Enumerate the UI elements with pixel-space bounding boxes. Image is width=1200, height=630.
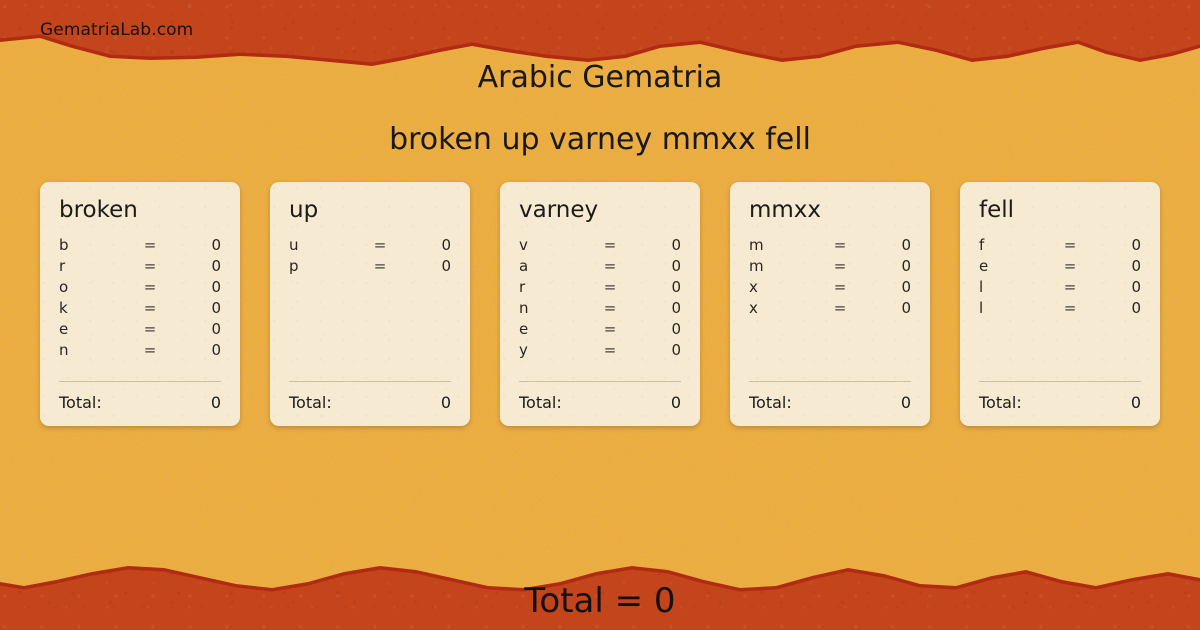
- letter-list: b=0r=0o=0k=0e=0n=0: [59, 236, 221, 381]
- equals-sign: =: [823, 278, 857, 296]
- letter-char: y: [519, 341, 593, 359]
- letter-char: l: [979, 299, 1053, 317]
- letter-row: l=0: [979, 278, 1141, 299]
- card-divider: [289, 381, 451, 382]
- equals-sign: =: [133, 320, 167, 338]
- letter-char: m: [749, 257, 823, 275]
- word-title: fell: [979, 198, 1141, 222]
- letter-char: m: [749, 236, 823, 254]
- card-total-row: Total:0: [749, 393, 911, 412]
- letter-value: 0: [857, 278, 911, 296]
- letter-value: 0: [1087, 278, 1141, 296]
- letter-char: u: [289, 236, 363, 254]
- letter-row: r=0: [519, 278, 681, 299]
- letter-value: 0: [627, 236, 681, 254]
- grand-total: Total = 0: [0, 581, 1200, 621]
- equals-sign: =: [1053, 236, 1087, 254]
- letter-row: m=0: [749, 236, 911, 257]
- letter-value: 0: [397, 236, 451, 254]
- letter-value: 0: [857, 299, 911, 317]
- card-total-row: Total:0: [519, 393, 681, 412]
- equals-sign: =: [823, 299, 857, 317]
- letter-value: 0: [627, 320, 681, 338]
- letter-value: 0: [627, 257, 681, 275]
- letter-value: 0: [1087, 236, 1141, 254]
- equals-sign: =: [593, 278, 627, 296]
- card-divider: [519, 381, 681, 382]
- letter-value: 0: [857, 257, 911, 275]
- letter-char: k: [59, 299, 133, 317]
- gematria-poster: GematriaLab.com Arabic Gematria broken u…: [0, 0, 1200, 630]
- card-total-value: 0: [102, 393, 221, 412]
- equals-sign: =: [133, 341, 167, 359]
- card-divider: [59, 381, 221, 382]
- word-card: brokenb=0r=0o=0k=0e=0n=0Total:0: [40, 182, 240, 426]
- equals-sign: =: [593, 299, 627, 317]
- equals-sign: =: [133, 257, 167, 275]
- equals-sign: =: [593, 257, 627, 275]
- letter-list: v=0a=0r=0n=0e=0y=0: [519, 236, 681, 381]
- letter-row: k=0: [59, 299, 221, 320]
- card-total-value: 0: [792, 393, 911, 412]
- letter-char: e: [519, 320, 593, 338]
- letter-list: u=0p=0: [289, 236, 451, 381]
- equals-sign: =: [1053, 299, 1087, 317]
- card-divider: [749, 381, 911, 382]
- letter-char: n: [59, 341, 133, 359]
- letter-char: l: [979, 278, 1053, 296]
- equals-sign: =: [363, 236, 397, 254]
- letter-char: e: [59, 320, 133, 338]
- letter-list: m=0m=0x=0x=0: [749, 236, 911, 381]
- page-title: Arabic Gematria: [0, 60, 1200, 95]
- word-card: fellf=0e=0l=0l=0Total:0: [960, 182, 1160, 426]
- letter-row: l=0: [979, 299, 1141, 320]
- equals-sign: =: [1053, 257, 1087, 275]
- letter-value: 0: [167, 341, 221, 359]
- letter-row: n=0: [519, 299, 681, 320]
- site-watermark: GematriaLab.com: [40, 20, 193, 40]
- letter-value: 0: [857, 236, 911, 254]
- letter-row: m=0: [749, 257, 911, 278]
- letter-row: e=0: [59, 320, 221, 341]
- letter-list: f=0e=0l=0l=0: [979, 236, 1141, 381]
- letter-value: 0: [627, 278, 681, 296]
- card-total-row: Total:0: [59, 393, 221, 412]
- letter-value: 0: [167, 299, 221, 317]
- word-card: mmxxm=0m=0x=0x=0Total:0: [730, 182, 930, 426]
- card-total-value: 0: [562, 393, 681, 412]
- letter-row: f=0: [979, 236, 1141, 257]
- letter-char: r: [59, 257, 133, 275]
- card-total-label: Total:: [749, 393, 792, 412]
- letter-row: x=0: [749, 278, 911, 299]
- letter-value: 0: [627, 341, 681, 359]
- card-total-label: Total:: [289, 393, 332, 412]
- letter-row: e=0: [519, 320, 681, 341]
- letter-char: o: [59, 278, 133, 296]
- letter-char: v: [519, 236, 593, 254]
- letter-char: r: [519, 278, 593, 296]
- word-card: varneyv=0a=0r=0n=0e=0y=0Total:0: [500, 182, 700, 426]
- equals-sign: =: [1053, 278, 1087, 296]
- letter-value: 0: [627, 299, 681, 317]
- letter-row: a=0: [519, 257, 681, 278]
- letter-row: e=0: [979, 257, 1141, 278]
- equals-sign: =: [593, 236, 627, 254]
- letter-row: y=0: [519, 341, 681, 362]
- equals-sign: =: [133, 299, 167, 317]
- card-total-row: Total:0: [979, 393, 1141, 412]
- letter-value: 0: [167, 257, 221, 275]
- word-card: upu=0p=0Total:0: [270, 182, 470, 426]
- equals-sign: =: [133, 236, 167, 254]
- letter-value: 0: [397, 257, 451, 275]
- letter-char: x: [749, 299, 823, 317]
- letter-char: x: [749, 278, 823, 296]
- letter-row: p=0: [289, 257, 451, 278]
- letter-value: 0: [167, 278, 221, 296]
- card-total-value: 0: [1022, 393, 1141, 412]
- letter-row: o=0: [59, 278, 221, 299]
- letter-row: x=0: [749, 299, 911, 320]
- card-total-label: Total:: [979, 393, 1022, 412]
- equals-sign: =: [363, 257, 397, 275]
- letter-row: u=0: [289, 236, 451, 257]
- letter-char: b: [59, 236, 133, 254]
- letter-value: 0: [167, 320, 221, 338]
- letter-char: a: [519, 257, 593, 275]
- letter-char: f: [979, 236, 1053, 254]
- letter-row: n=0: [59, 341, 221, 362]
- letter-char: n: [519, 299, 593, 317]
- letter-row: b=0: [59, 236, 221, 257]
- equals-sign: =: [133, 278, 167, 296]
- equals-sign: =: [823, 236, 857, 254]
- card-total-label: Total:: [519, 393, 562, 412]
- card-total-row: Total:0: [289, 393, 451, 412]
- card-total-value: 0: [332, 393, 451, 412]
- letter-char: p: [289, 257, 363, 275]
- word-title: varney: [519, 198, 681, 222]
- letter-value: 0: [167, 236, 221, 254]
- letter-row: r=0: [59, 257, 221, 278]
- letter-value: 0: [1087, 257, 1141, 275]
- word-title: mmxx: [749, 198, 911, 222]
- word-card-list: brokenb=0r=0o=0k=0e=0n=0Total:0upu=0p=0T…: [40, 182, 1160, 426]
- card-total-label: Total:: [59, 393, 102, 412]
- equals-sign: =: [593, 320, 627, 338]
- word-title: up: [289, 198, 451, 222]
- card-divider: [979, 381, 1141, 382]
- word-title: broken: [59, 198, 221, 222]
- equals-sign: =: [823, 257, 857, 275]
- equals-sign: =: [593, 341, 627, 359]
- letter-value: 0: [1087, 299, 1141, 317]
- phrase-text: broken up varney mmxx fell: [0, 122, 1200, 157]
- letter-char: e: [979, 257, 1053, 275]
- letter-row: v=0: [519, 236, 681, 257]
